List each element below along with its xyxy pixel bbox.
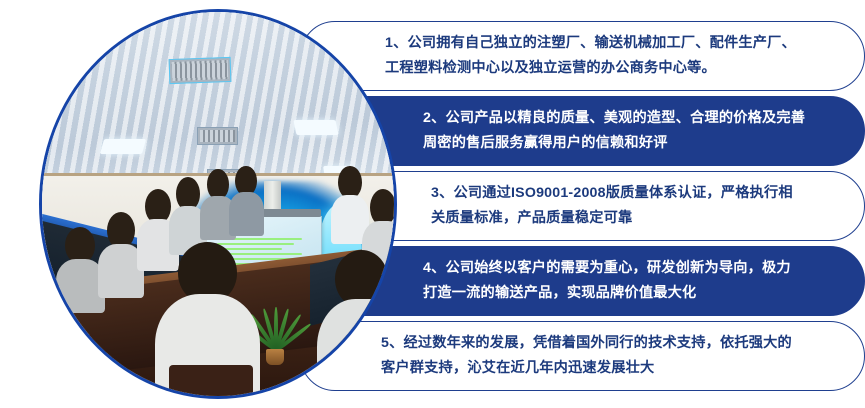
attendee-foreground <box>317 250 394 396</box>
ceiling-light <box>100 139 147 154</box>
attendee <box>229 166 264 235</box>
ceiling <box>42 12 394 181</box>
ceiling-light <box>294 120 339 135</box>
advantages-banner: 1、公司拥有自己独立的注塑厂、输送机械加工厂、配件生产厂、 工程塑料检测中心以及… <box>0 0 865 408</box>
chair <box>169 365 253 396</box>
ceiling-vent-icon <box>197 127 238 144</box>
meeting-room-photo <box>42 12 394 396</box>
photo-scene <box>42 12 394 396</box>
plant-pot <box>266 349 284 365</box>
ceiling-vent-icon <box>168 57 231 84</box>
